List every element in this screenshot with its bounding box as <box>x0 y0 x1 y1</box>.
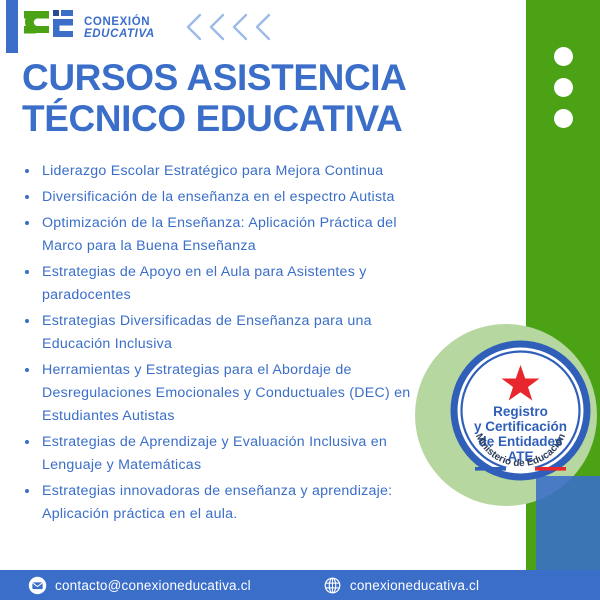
list-item: Estrategias de Apoyo en el Aula para Asi… <box>22 261 422 307</box>
chevron-left-icon <box>183 12 205 42</box>
page-title-line1: CURSOS ASISTENCIA <box>22 58 492 99</box>
list-item: Diversificación de la enseñanza en el es… <box>22 186 422 209</box>
globe-icon <box>323 576 342 595</box>
chevron-left-icon <box>206 12 228 42</box>
list-item: Estrategias Diversificadas de Enseñanza … <box>22 310 422 356</box>
brand-name: CONEXIÓN EDUCATIVA <box>84 16 155 41</box>
svg-text:y Certificación: y Certificación <box>474 419 567 434</box>
brand-name-line2: EDUCATIVA <box>84 28 155 40</box>
footer-email-text: contacto@conexioneducativa.cl <box>55 578 251 593</box>
dot-decor <box>554 109 573 128</box>
conexion-educativa-monogram-icon <box>22 8 76 48</box>
dot-group-decor <box>554 47 573 128</box>
blue-accent-bar <box>6 0 18 53</box>
page-title-line2: TÉCNICO EDUCATIVA <box>22 99 492 140</box>
footer-website[interactable]: conexioneducativa.cl <box>323 576 479 595</box>
blue-corner-block <box>536 476 600 570</box>
ate-certification-seal: Registro y Certificación de Entidades AT… <box>449 339 592 482</box>
list-item: Liderazgo Escolar Estratégico para Mejor… <box>22 160 422 183</box>
contact-footer: contacto@conexioneducativa.cl conexioned… <box>0 570 600 600</box>
footer-email[interactable]: contacto@conexioneducativa.cl <box>28 576 251 595</box>
list-item: Optimización de la Enseñanza: Aplicación… <box>22 212 422 258</box>
list-item: Estrategias innovadoras de enseñanza y a… <box>22 480 422 526</box>
chevron-left-icon <box>252 12 274 42</box>
brand-name-line1: CONEXIÓN <box>84 16 155 28</box>
dot-decor <box>554 78 573 97</box>
chevron-left-icon <box>229 12 251 42</box>
poster-canvas: CONEXIÓN EDUCATIVA CURSOS ASISTENCIA TÉC… <box>0 0 600 600</box>
brand-logo: CONEXIÓN EDUCATIVA <box>22 8 155 48</box>
page-title: CURSOS ASISTENCIA TÉCNICO EDUCATIVA <box>22 58 492 139</box>
svg-text:Registro: Registro <box>493 404 548 419</box>
dot-decor <box>554 47 573 66</box>
list-item: Herramientas y Estrategias para el Abord… <box>22 359 422 428</box>
list-item: Estrategias de Aprendizaje y Evaluación … <box>22 431 422 477</box>
course-list: Liderazgo Escolar Estratégico para Mejor… <box>22 160 422 529</box>
footer-website-text: conexioneducativa.cl <box>350 578 479 593</box>
envelope-icon <box>28 576 47 595</box>
chevron-group <box>183 12 274 42</box>
